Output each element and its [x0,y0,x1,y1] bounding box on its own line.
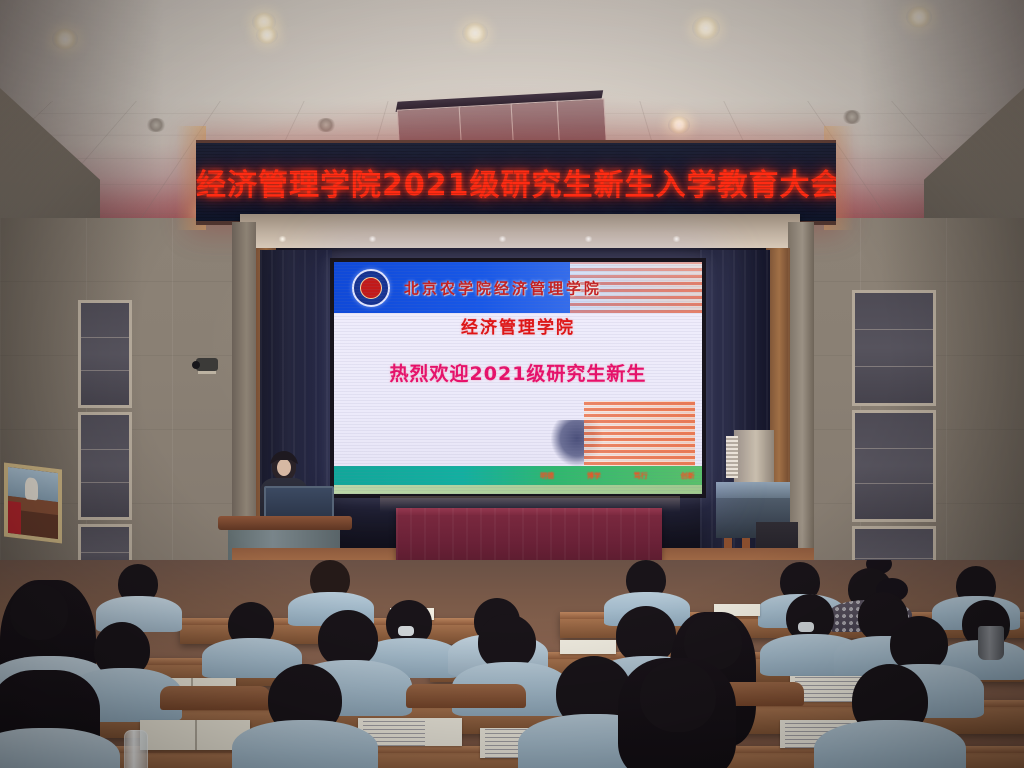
acoustic-panel [852,410,936,522]
soffit-downlight [368,236,377,242]
camera-lens [192,361,200,369]
stage-left-pillar [232,222,256,562]
stage-soffit [240,214,800,248]
right-wall-panel-column [852,290,936,590]
slide-footer-base [334,485,702,494]
slide-motto: 明德 博学 笃行 创新 [540,468,695,484]
university-seal-icon [352,269,390,307]
face-mask [798,622,814,632]
audience-head [10,584,68,640]
seal-inner [360,277,382,299]
framed-wall-picture [4,462,62,543]
thermos-cup [978,626,1004,660]
stage-loudspeaker [716,430,790,560]
soffit-downlight [672,236,681,242]
picture-red-figure [6,501,21,535]
projected-slide: 北京农学院经济管理学院 经济管理学院 热烈欢迎2021级研究生新生 明德 博学 … [334,262,702,494]
stage-right-pillar [788,222,814,562]
slide-campus-building-graphic [584,401,694,471]
slide-header-band: 北京农学院经济管理学院 [334,262,702,313]
speaker-cover-cloth [716,482,790,498]
lecture-hall-photo: 经济管理学院2021级研究生新生入学教育大会 [0,0,1024,768]
wall-camera-icon [192,358,222,376]
water-bottle [124,730,148,768]
face-mask [398,626,414,636]
led-banner-text: 经济管理学院2021级研究生新生入学教育大会 [196,160,836,204]
desk-paper [560,640,616,654]
motto-word: 创新 [681,471,695,481]
motto-word: 博学 [587,471,601,481]
motto-word: 笃行 [634,471,648,481]
presenter-face [277,459,291,476]
slide-line-1: 经济管理学院 [334,313,702,338]
chair-back [160,686,270,710]
left-wall-panel-column [78,300,132,580]
led-banner: 经济管理学院2021级研究生新生入学教育大会 [196,140,836,225]
soffit-downlight [498,236,507,242]
audience-area [0,560,1024,768]
audience-shoulders [232,720,378,768]
acoustic-panel [78,300,132,408]
audience-head [640,660,716,732]
chair-back [406,684,526,708]
picture-figure [25,477,38,501]
speaker-grill [726,436,738,478]
acoustic-panel [852,290,936,406]
soffit-downlight [584,236,593,242]
slide-header-title: 北京农学院经济管理学院 [404,277,602,298]
podium-top [218,516,352,530]
acoustic-panel [78,412,132,520]
speaker-cabinet-top [734,430,774,482]
audience-shoulders [814,720,966,768]
soffit-downlight [278,236,287,242]
motto-word: 明德 [540,471,554,481]
projection-screen: 北京农学院经济管理学院 经济管理学院 热烈欢迎2021级研究生新生 明德 博学 … [330,258,706,498]
slide-line-2: 热烈欢迎2021级研究生新生 [334,359,702,386]
